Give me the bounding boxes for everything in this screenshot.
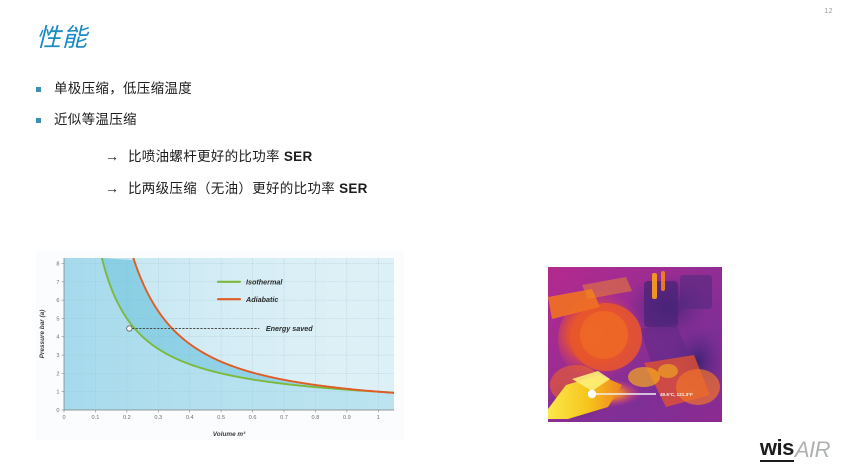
y-tick-label: 5 xyxy=(56,316,59,322)
y-tick-label: 3 xyxy=(56,353,59,359)
sub-bullet-emphasis: SER xyxy=(284,149,313,164)
energy-saved-label: Energy saved xyxy=(266,324,313,333)
x-tick-label: 0 xyxy=(62,415,65,421)
y-tick-label: 8 xyxy=(56,261,59,267)
x-tick-label: 0.5 xyxy=(217,415,225,421)
y-tick-label: 6 xyxy=(56,298,59,304)
list-item: 单极压缩，低压缩温度 xyxy=(36,80,556,98)
y-tick-label: 4 xyxy=(56,335,59,341)
sub-bullet-main: 比两级压缩（无油）更好的比功率 xyxy=(128,181,339,196)
chart-svg: 00.10.20.30.40.50.60.70.80.91012345678Vo… xyxy=(36,250,404,440)
thermal-image: 49.6°C, 121.3°F xyxy=(548,267,722,422)
arrow-right-icon: → xyxy=(105,147,119,165)
bullet-text: 近似等温压缩 xyxy=(54,111,137,129)
x-tick-label: 0.2 xyxy=(123,415,131,421)
bullet-text: 单极压缩，低压缩温度 xyxy=(54,80,192,98)
legend-label-adiabatic: Adiabatic xyxy=(245,295,278,304)
thermal-temperature-label: 49.6°C, 121.3°F xyxy=(660,392,693,397)
list-item: → 比喷油螺杆更好的比功率 SER xyxy=(105,147,625,166)
legend-label-isothermal: Isothermal xyxy=(246,277,283,286)
thermal-spot-marker xyxy=(588,390,596,398)
square-bullet-icon xyxy=(36,87,41,92)
y-tick-label: 1 xyxy=(56,390,59,396)
brand-logo: wis AIR xyxy=(760,436,830,462)
square-bullet-icon xyxy=(36,118,41,123)
pressure-volume-chart: 00.10.20.30.40.50.60.70.80.91012345678Vo… xyxy=(36,250,404,440)
x-tick-label: 0.3 xyxy=(154,415,162,421)
thermal-svg: 49.6°C, 121.3°F xyxy=(548,267,722,422)
sub-bullet-list: → 比喷油螺杆更好的比功率 SER → 比两级压缩（无油）更好的比功率 SER xyxy=(105,147,625,210)
page-title: 性能 xyxy=(36,26,88,51)
sub-bullet-text: 比喷油螺杆更好的比功率 SER xyxy=(128,148,313,166)
arrow-right-icon: → xyxy=(105,179,119,197)
x-axis-label: Volume m³ xyxy=(213,431,246,438)
x-tick-label: 0.6 xyxy=(249,415,257,421)
y-axis-label: Pressure bar (a) xyxy=(39,310,46,359)
y-tick-label: 0 xyxy=(56,408,59,414)
logo-text-air: AIR xyxy=(795,439,830,462)
sub-bullet-main: 比喷油螺杆更好的比功率 xyxy=(128,149,284,164)
y-tick-label: 7 xyxy=(56,280,59,286)
x-tick-label: 0.9 xyxy=(343,415,351,421)
x-tick-label: 0.1 xyxy=(92,415,100,421)
bullet-list: 单极压缩，低压缩温度 近似等温压缩 xyxy=(36,80,556,142)
x-tick-label: 0.4 xyxy=(186,415,194,421)
logo-text-wis: wis xyxy=(760,437,794,462)
sub-bullet-text: 比两级压缩（无油）更好的比功率 SER xyxy=(128,180,368,198)
list-item: 近似等温压缩 xyxy=(36,111,556,129)
x-tick-label: 0.7 xyxy=(280,415,288,421)
x-tick-label: 0.8 xyxy=(312,415,320,421)
energy-saved-marker xyxy=(127,326,132,331)
y-tick-label: 2 xyxy=(56,371,59,377)
page-number: 12 xyxy=(824,8,833,15)
list-item: → 比两级压缩（无油）更好的比功率 SER xyxy=(105,179,625,198)
x-tick-label: 1 xyxy=(377,415,380,421)
sub-bullet-emphasis: SER xyxy=(339,181,368,196)
